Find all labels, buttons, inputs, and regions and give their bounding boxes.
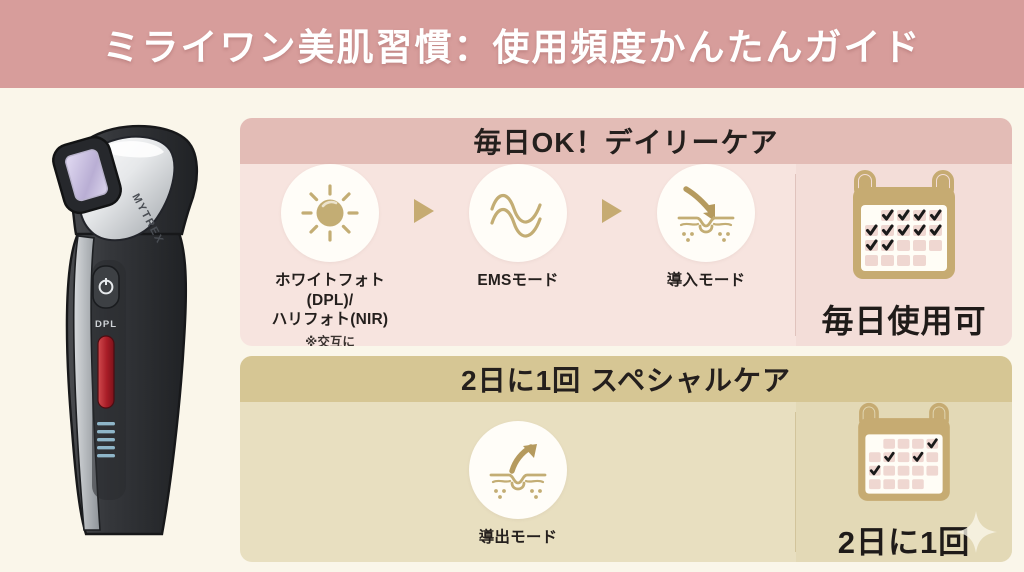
special-care-panel: 2日に1回 スペシャルケア xyxy=(240,356,1012,562)
pore-absorb-icon-circle xyxy=(657,164,755,262)
step-white-photo-label: ホワイトフォト(DPL)/ ハリフォト(NIR) xyxy=(256,271,404,330)
special-care-title: 2日に1回 スペシャルケア xyxy=(461,359,791,399)
device-svg: MYTREX DPL xyxy=(14,110,234,550)
device-illustration: MYTREX DPL xyxy=(14,110,234,550)
step-ems-label: EMSモード xyxy=(477,271,558,291)
page-header: ミライワン美肌習慣：使用頻度かんたんガイド xyxy=(0,0,1024,88)
daily-care-panel: 毎日OK！デイリーケア xyxy=(240,118,1012,346)
step-arrow-1 xyxy=(404,160,444,258)
special-care-steps: 導出モード xyxy=(444,417,592,548)
daily-care-title: 毎日OK！デイリーケア xyxy=(473,121,778,161)
sparkle-icon xyxy=(954,510,998,554)
step-introduction-mode[interactable]: 導入モード xyxy=(632,160,780,291)
device-indicator-bar xyxy=(98,336,114,408)
device-mode-label: DPL xyxy=(95,319,117,330)
power-icon-stem xyxy=(105,278,107,285)
pore-absorb-icon xyxy=(673,182,739,244)
pore-extract-icon xyxy=(485,439,551,501)
sun-icon-circle xyxy=(281,164,379,262)
step-white-photo-note: ※交互に xyxy=(305,331,355,346)
calendar-icon xyxy=(848,402,960,508)
step-ems[interactable]: EMSモード xyxy=(444,160,592,291)
ems-icon-circle xyxy=(469,164,567,262)
step-extraction-mode[interactable]: 導出モード xyxy=(444,417,592,548)
daily-care-calendar-column: 毎日使用可 xyxy=(796,164,1012,346)
page-title: ミライワン美肌習慣：使用頻度かんたんガイド xyxy=(103,17,922,71)
special-care-frequency-label: 2日に1回 xyxy=(838,517,970,562)
ems-wave-icon xyxy=(486,185,550,241)
step-white-photo[interactable]: ホワイトフォト(DPL)/ ハリフォト(NIR) ※交互に xyxy=(256,160,404,346)
step-introduction-mode-label: 導入モード xyxy=(667,271,746,291)
step-extraction-mode-label: 導出モード xyxy=(479,528,558,548)
special-care-band: 2日に1回 スペシャルケア xyxy=(240,356,1012,402)
daily-care-steps: ホワイトフォト(DPL)/ ハリフォト(NIR) ※交互に EMSモード xyxy=(256,160,780,346)
special-care-body: 導出モード xyxy=(240,402,1012,562)
power-button[interactable] xyxy=(93,266,119,308)
daily-care-steps-column: ホワイトフォト(DPL)/ ハリフォト(NIR) ※交互に EMSモード xyxy=(240,164,796,346)
daily-care-frequency-label: 毎日使用可 xyxy=(821,296,986,342)
special-care-steps-column: 導出モード xyxy=(240,402,796,562)
calendar-icon xyxy=(845,169,963,287)
daily-care-body: ホワイトフォト(DPL)/ ハリフォト(NIR) ※交互に EMSモード xyxy=(240,164,1012,346)
sun-icon xyxy=(299,182,361,244)
triangle-right-icon xyxy=(414,199,434,223)
daily-care-band: 毎日OK！デイリーケア xyxy=(240,118,1012,164)
special-care-calendar-column: 2日に1回 xyxy=(796,402,1012,562)
step-arrow-2 xyxy=(592,160,632,258)
pore-extract-icon-circle xyxy=(469,421,567,519)
triangle-right-icon xyxy=(602,199,622,223)
